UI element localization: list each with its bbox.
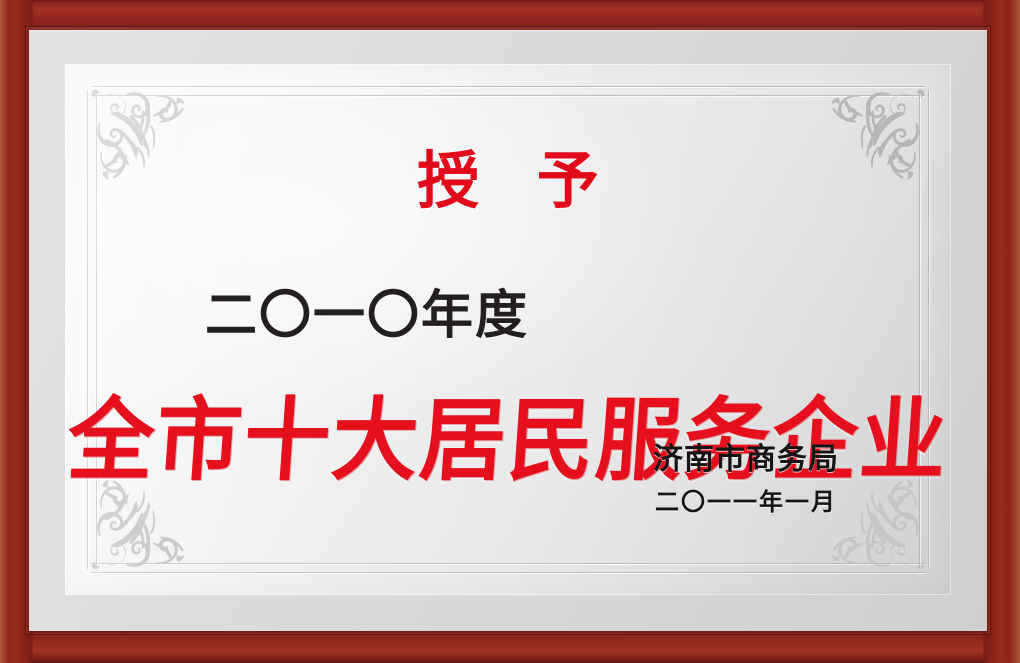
award-content: 授 予 二〇一〇年度 全市十大居民服务企业 济南市商务局 二〇一一年一月 xyxy=(65,64,951,595)
plaque-mat: 授 予 二〇一〇年度 全市十大居民服务企业 济南市商务局 二〇一一年一月 xyxy=(29,30,987,631)
award-plaque: 授 予 二〇一〇年度 全市十大居民服务企业 济南市商务局 二〇一一年一月 xyxy=(0,0,1020,663)
issuer-date: 二〇一一年一月 xyxy=(653,489,839,517)
issuer-block: 济南市商务局 二〇一一年一月 xyxy=(653,443,839,517)
award-year-line: 二〇一〇年度 xyxy=(205,290,529,342)
issuer-name: 济南市商务局 xyxy=(653,443,839,478)
plaque-panel: 授 予 二〇一〇年度 全市十大居民服务企业 济南市商务局 二〇一一年一月 xyxy=(65,64,951,595)
award-heading: 授 予 xyxy=(65,150,951,212)
